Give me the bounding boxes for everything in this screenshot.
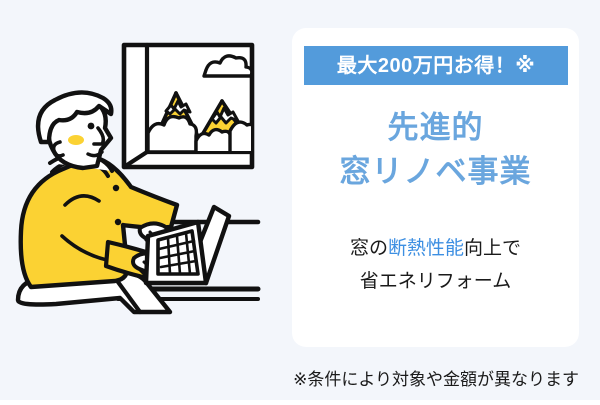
- person-blush: [68, 135, 84, 145]
- person-eye: [88, 123, 95, 130]
- illustration-person-using-laptop-by-window: [0, 0, 292, 400]
- subcopy-accent: 断熱性能: [388, 238, 464, 259]
- footnote: ※条件により対象や金額が異なります: [0, 370, 600, 390]
- program-subcopy: 窓の断熱性能向上で 省エネリフォーム: [292, 232, 579, 299]
- subcopy-prefix: 窓の: [350, 238, 388, 259]
- subcopy-suffix: 向上で: [464, 238, 521, 259]
- renovation-promo-banner: 最大200万円お得！※ 先進的 窓リノベ事業 窓の断熱性能向上で 省エネリフォー…: [0, 0, 600, 400]
- offer-badge-label: 最大200万円お得！※: [337, 56, 535, 76]
- promo-card: 最大200万円お得！※ 先進的 窓リノベ事業 窓の断熱性能向上で 省エネリフォー…: [292, 28, 579, 347]
- footnote-text: ※条件により対象や金額が異なります: [293, 370, 579, 389]
- program-title-line-2: 窓リノベ事業: [292, 150, 579, 194]
- program-title-line-1: 先進的: [292, 106, 579, 150]
- subcopy-line-1: 窓の断熱性能向上で: [292, 232, 579, 265]
- subcopy-line-2: 省エネリフォーム: [292, 265, 579, 298]
- illustration-svg: [0, 0, 292, 400]
- program-title: 先進的 窓リノベ事業: [292, 106, 579, 194]
- offer-badge: 最大200万円お得！※: [304, 46, 568, 85]
